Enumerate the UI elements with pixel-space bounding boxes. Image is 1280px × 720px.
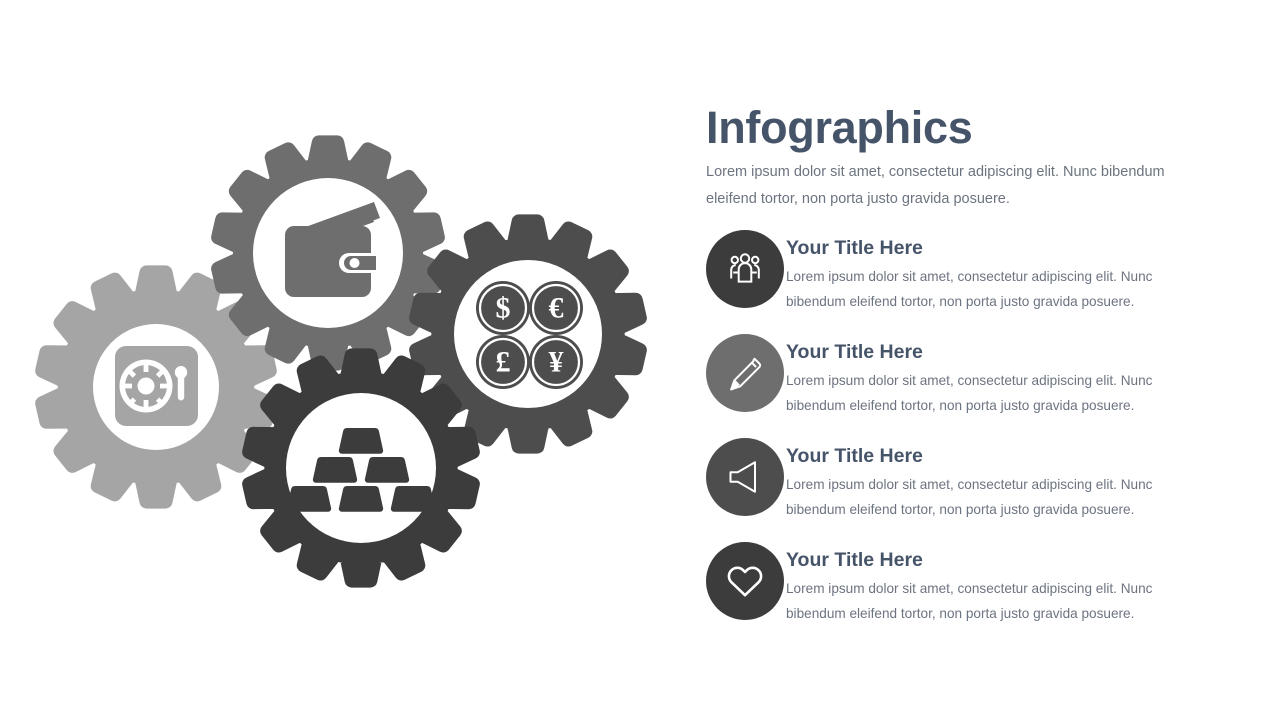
coin-symbol-euro: € [549, 292, 564, 325]
feature-desc-4: Lorem ipsum dolor sit amet, consectetur … [786, 573, 1194, 626]
coin-pound: £ [476, 335, 530, 389]
feature-badge-3[interactable] [706, 438, 784, 516]
feature-desc-3: Lorem ipsum dolor sit amet, consectetur … [786, 469, 1194, 522]
feature-desc-2: Lorem ipsum dolor sit amet, consectetur … [786, 365, 1194, 418]
page-subtitle: Lorem ipsum dolor sit amet, consectetur … [706, 159, 1192, 213]
feature-desc-1: Lorem ipsum dolor sit amet, consectetur … [786, 261, 1194, 314]
coin-symbol-yen: ¥ [549, 346, 564, 379]
coin-symbol-pound: £ [496, 346, 511, 379]
page-title: Infographics [706, 101, 972, 155]
gear-gold-bars [249, 355, 473, 580]
pencil-icon [725, 353, 765, 393]
coin-yen: ¥ [529, 335, 583, 389]
safe-icon [115, 346, 198, 426]
feature-title-4: Your Title Here [786, 540, 1226, 573]
people-group-icon [725, 249, 765, 289]
speaker-icon [725, 457, 765, 497]
gear-gold-bars-hub [286, 393, 436, 543]
content-column: Infographics Lorem ipsum dolor sit amet,… [706, 0, 1226, 720]
feature-item-2[interactable]: Your Title Here Lorem ipsum dolor sit am… [706, 332, 1226, 436]
coin-symbol-dollar: $ [496, 292, 511, 325]
feature-item-4[interactable]: Your Title Here Lorem ipsum dolor sit am… [706, 540, 1226, 644]
feature-list: Your Title Here Lorem ipsum dolor sit am… [706, 228, 1226, 644]
feature-title-1: Your Title Here [786, 228, 1226, 261]
feature-item-1[interactable]: Your Title Here Lorem ipsum dolor sit am… [706, 228, 1226, 332]
gear-currency-hub [454, 260, 602, 408]
coin-dollar: $ [476, 281, 530, 335]
gear-wallet [218, 142, 438, 363]
heart-icon [725, 561, 765, 601]
feature-badge-4[interactable] [706, 542, 784, 620]
feature-badge-2[interactable] [706, 334, 784, 412]
feature-item-3[interactable]: Your Title Here Lorem ipsum dolor sit am… [706, 436, 1226, 540]
gear-cluster-svg: $ € £ ¥ [0, 0, 680, 720]
coin-euro: € [529, 281, 583, 335]
feature-badge-1[interactable] [706, 230, 784, 308]
feature-title-2: Your Title Here [786, 332, 1226, 365]
feature-title-3: Your Title Here [786, 436, 1226, 469]
gear-cluster-illustration: $ € £ ¥ [0, 0, 680, 720]
